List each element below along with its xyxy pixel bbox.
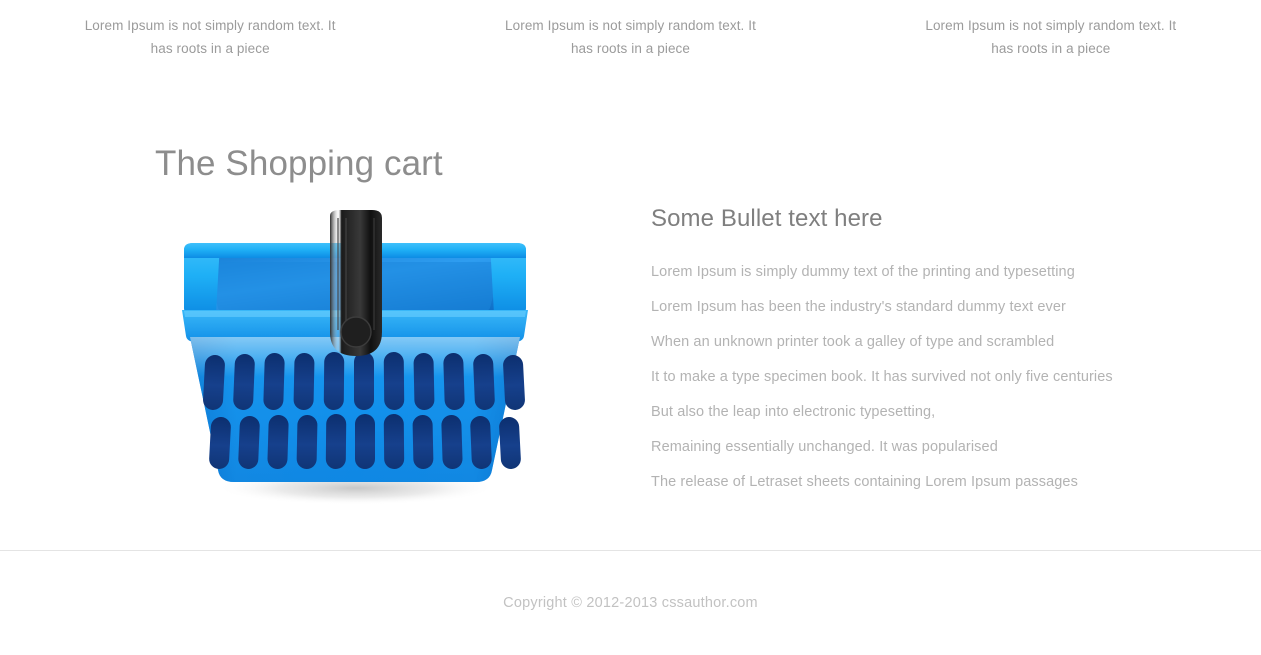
bullet-item: But also the leap into electronic typese…	[651, 395, 1211, 430]
feature-teaser-row: Lorem Ipsum is not simply random text. I…	[0, 0, 1261, 60]
footer: Copyright © 2012-2013 cssauthor.com	[0, 551, 1261, 655]
bullet-list: Lorem Ipsum is simply dummy text of the …	[651, 255, 1211, 500]
bullet-item: Lorem Ipsum is simply dummy text of the …	[651, 255, 1211, 290]
bullet-item: Remaining essentially unchanged. It was …	[651, 430, 1211, 465]
bullet-item: When an unknown printer took a galley of…	[651, 325, 1211, 360]
shopping-basket-illustration	[160, 210, 550, 510]
feature-text-2: Lorem Ipsum is not simply random text. I…	[504, 14, 756, 47]
bullet-item: Lorem Ipsum has been the industry's stan…	[651, 290, 1211, 325]
page-root: Lorem Ipsum is not simply random text. I…	[0, 0, 1261, 655]
bullet-item: The release of Letraset sheets containin…	[651, 465, 1211, 500]
bullet-text-block: Some Bullet text here Lorem Ipsum is sim…	[651, 205, 1211, 500]
feature-column-3: Lorem Ipsum is not simply random text. I…	[841, 0, 1261, 60]
bullet-block-title: Some Bullet text here	[651, 205, 1211, 233]
feature-text-3: Lorem Ipsum is not simply random text. I…	[925, 14, 1177, 47]
basket-slot-row-bottom	[209, 414, 522, 470]
feature-text-1: Lorem Ipsum is not simply random text. I…	[84, 14, 336, 47]
feature-column-1: Lorem Ipsum is not simply random text. I…	[0, 0, 420, 60]
shopping-basket-icon	[160, 210, 550, 510]
bullet-item: It to make a type specimen book. It has …	[651, 360, 1211, 395]
page-title: The Shopping cart	[155, 144, 443, 184]
copyright-text: Copyright © 2012-2013 cssauthor.com	[503, 595, 758, 611]
basket-slot-row-top	[203, 352, 526, 411]
basket-handle-icon	[330, 210, 382, 356]
feature-column-2: Lorem Ipsum is not simply random text. I…	[420, 0, 840, 60]
